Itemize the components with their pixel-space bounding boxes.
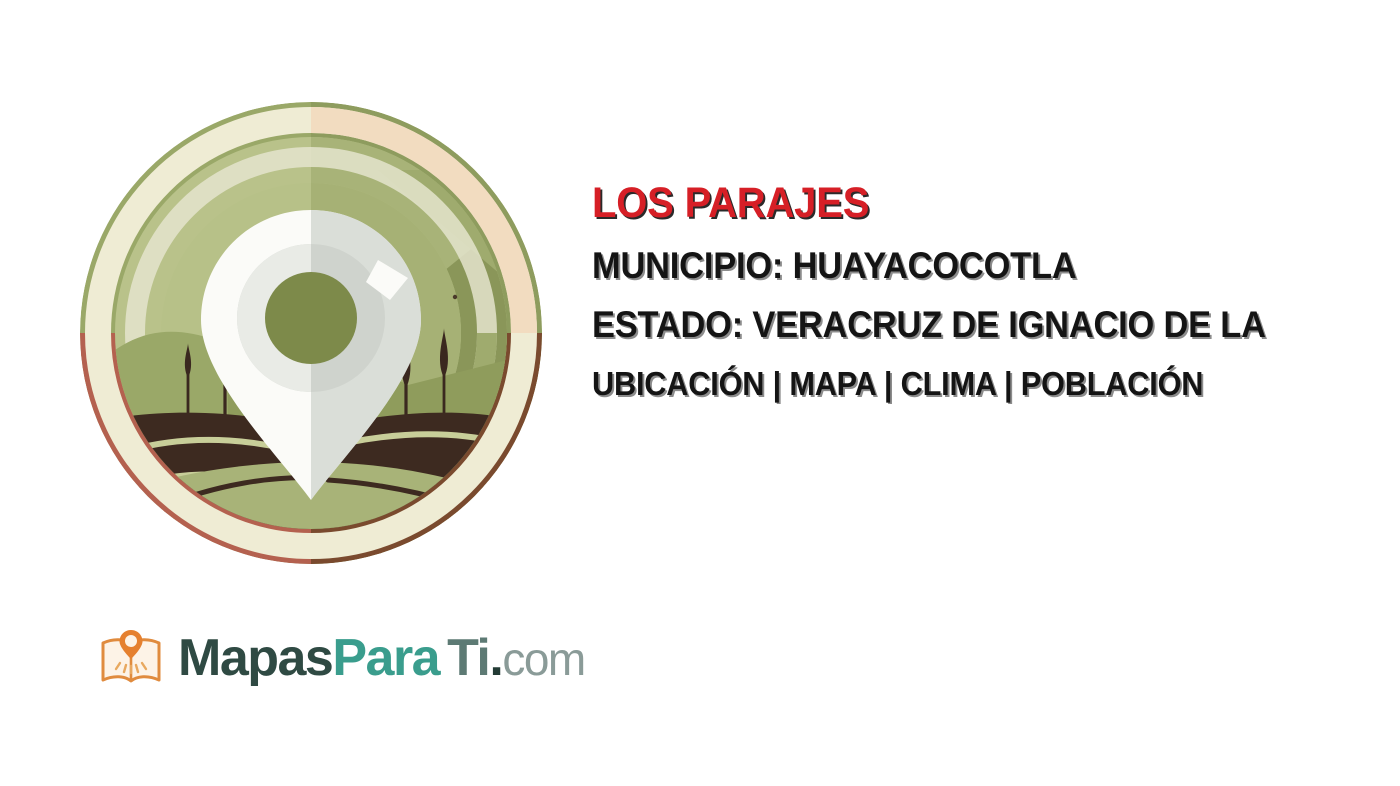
brand-lockup[interactable]: MapasParaTi.com	[98, 618, 585, 698]
location-landscape-emblem	[78, 100, 544, 566]
estado-line: ESTADO: VERACRUZ DE IGNACIO DE LA	[592, 306, 1347, 343]
brand-part-ti: Ti	[439, 632, 489, 684]
open-book-pin-icon	[98, 625, 164, 691]
info-text-block: LOS PARAJES MUNICIPIO: HUAYACOCOTLA ESTA…	[592, 182, 1400, 400]
page-title: LOS PARAJES	[592, 182, 1347, 225]
brand-part-para: Para	[332, 632, 439, 684]
page-root: LOS PARAJES MUNICIPIO: HUAYACOCOTLA ESTA…	[0, 0, 1400, 786]
speck-artifact	[453, 295, 457, 299]
brand-part-dot: .	[489, 632, 502, 684]
brand-part-mapas: Mapas	[178, 632, 332, 684]
brand-wordmark: MapasParaTi.com	[178, 632, 585, 684]
municipio-line: MUNICIPIO: HUAYACOCOTLA	[592, 247, 1347, 284]
section-links[interactable]: UBICACIÓN | MAPA | CLIMA | POBLACIÓN	[592, 367, 1347, 400]
brand-part-com: com	[502, 636, 584, 682]
